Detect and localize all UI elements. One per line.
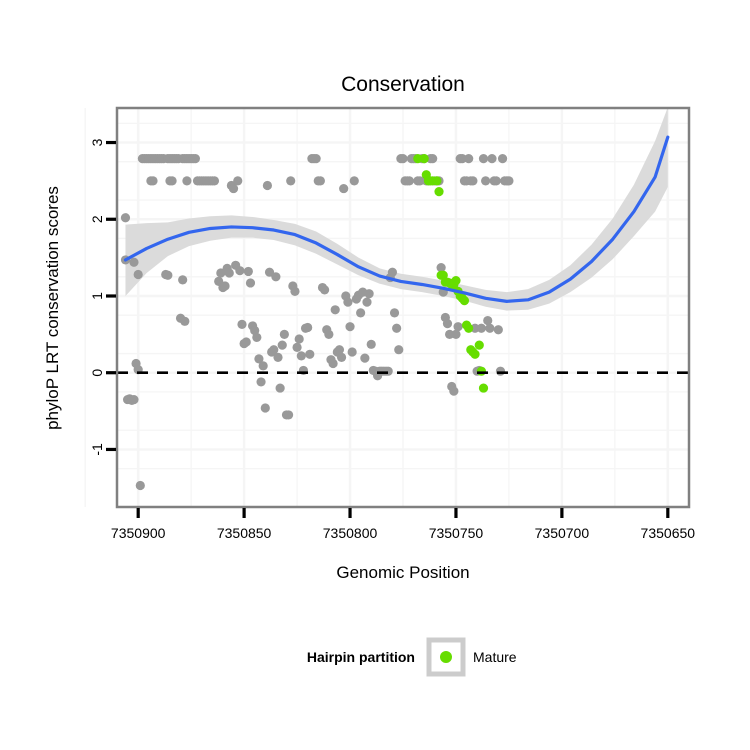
scatter-point (276, 383, 285, 392)
scatter-point (320, 285, 329, 294)
scatter-point (271, 272, 280, 281)
scatter-point (256, 377, 265, 386)
legend-title: Hairpin partition (307, 649, 415, 665)
x-tick-label: 7350650 (641, 525, 696, 541)
scatter-point (182, 176, 191, 185)
scatter-point (163, 271, 172, 280)
scatter-point (362, 298, 371, 307)
scatter-point (337, 353, 346, 362)
scatter-point (295, 334, 304, 343)
scatter-point (210, 176, 219, 185)
scatter-point (191, 154, 200, 163)
scatter-point (343, 298, 352, 307)
x-tick-label: 7350850 (217, 525, 272, 541)
scatter-point (492, 176, 501, 185)
scatter-point (136, 481, 145, 490)
scatter-point (360, 354, 369, 363)
scatter-point (498, 154, 507, 163)
scatter-point (280, 330, 289, 339)
scatter-point (453, 322, 462, 331)
scatter-point (350, 176, 359, 185)
scatter-point (261, 403, 270, 412)
scatter-point (388, 268, 397, 277)
scatter-point (339, 184, 348, 193)
scatter-point (481, 176, 490, 185)
scatter-point (477, 324, 486, 333)
scatter-point (259, 361, 268, 370)
scatter-point (494, 325, 503, 334)
scatter-point (303, 323, 312, 332)
x-tick-label: 7350800 (323, 525, 378, 541)
scatter-point (485, 324, 494, 333)
x-tick-label: 7350750 (429, 525, 484, 541)
scatter-point (273, 353, 282, 362)
scatter-point (477, 367, 486, 376)
y-tick-label: -1 (89, 443, 105, 456)
scatter-point (252, 333, 261, 342)
scatter-point (504, 176, 513, 185)
scatter-point (121, 213, 130, 222)
y-tick-label: 3 (89, 138, 105, 146)
plot-panel (85, 107, 689, 507)
scatter-point (394, 345, 403, 354)
scatter-point (464, 154, 473, 163)
scatter-point (263, 181, 272, 190)
page-title: Conservation (341, 73, 465, 96)
plot-svg: Conservation 735090073508507350800735075… (0, 0, 750, 750)
scatter-point (220, 281, 229, 290)
scatter-point (405, 176, 414, 185)
scatter-point (242, 337, 251, 346)
scatter-point (312, 154, 321, 163)
scatter-point (460, 296, 469, 305)
scatter-point (292, 343, 301, 352)
scatter-point (134, 270, 143, 279)
y-tick-label: 1 (89, 292, 105, 300)
x-tick-label: 7350700 (535, 525, 590, 541)
scatter-point (398, 154, 407, 163)
scatter-point (246, 278, 255, 287)
legend-entry-label: Mature (473, 649, 517, 665)
scatter-point (475, 340, 484, 349)
scatter-point (449, 387, 458, 396)
scatter-point (225, 268, 234, 277)
scatter-point (479, 154, 488, 163)
scatter-point (365, 289, 374, 298)
scatter-point (290, 287, 299, 296)
scatter-point (392, 324, 401, 333)
legend-key-dot-icon (440, 651, 452, 663)
scatter-point (464, 324, 473, 333)
scatter-point (324, 330, 333, 339)
scatter-point (129, 258, 138, 267)
x-axis-title: Genomic Position (336, 563, 469, 582)
y-tick-label: 2 (89, 215, 105, 223)
scatter-point (328, 359, 337, 368)
scatter-point (367, 340, 376, 349)
scatter-point (468, 176, 477, 185)
scatter-point (432, 176, 441, 185)
scatter-point (443, 319, 452, 328)
scatter-point (178, 275, 187, 284)
scatter-point (297, 351, 306, 360)
scatter-point (479, 383, 488, 392)
scatter-point (356, 308, 365, 317)
scatter-point (235, 266, 244, 275)
y-axis-title: phyloP LRT conservation scores (43, 186, 62, 430)
scatter-point (244, 267, 253, 276)
scatter-point (331, 305, 340, 314)
scatter-point (345, 322, 354, 331)
scatter-point (496, 367, 505, 376)
scatter-point (470, 350, 479, 359)
scatter-point (305, 350, 314, 359)
scatter-point (316, 176, 325, 185)
scatter-point (286, 176, 295, 185)
y-tick-label: 0 (89, 369, 105, 377)
scatter-point (487, 154, 496, 163)
scatter-point (233, 176, 242, 185)
scatter-point (284, 410, 293, 419)
scatter-point (278, 340, 287, 349)
scatter-point (451, 276, 460, 285)
scatter-point (148, 176, 157, 185)
scatter-point (384, 367, 393, 376)
scatter-point (428, 154, 437, 163)
scatter-point (167, 176, 176, 185)
scatter-point (420, 154, 429, 163)
conservation-plot-figure: Conservation 735090073508507350800735075… (0, 0, 750, 750)
scatter-point (348, 347, 357, 356)
scatter-point (237, 320, 246, 329)
scatter-point (129, 395, 138, 404)
scatter-point (390, 308, 399, 317)
scatter-point (434, 187, 443, 196)
scatter-point (180, 317, 189, 326)
x-tick-label: 7350900 (111, 525, 166, 541)
